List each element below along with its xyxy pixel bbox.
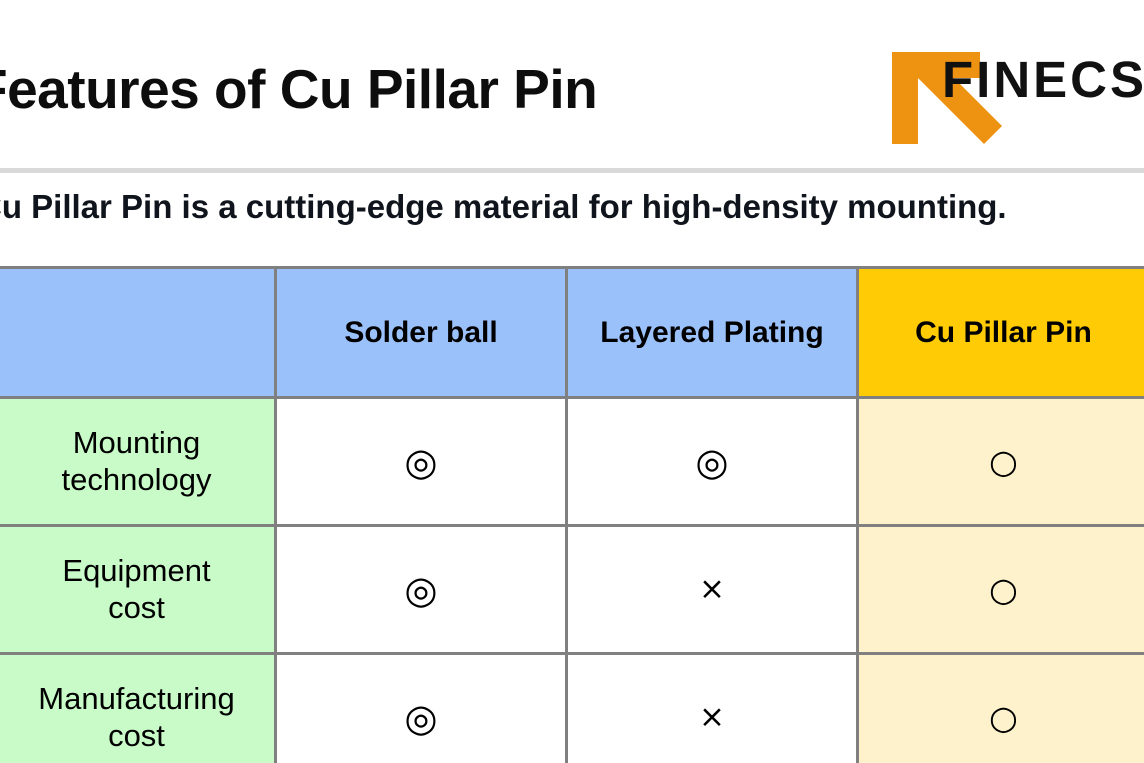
cell-equipment-layered-plating: × [567,526,858,654]
rating-single-circle-icon: ○ [989,445,1018,478]
cell-equipment-solder-ball: ◎ [276,526,567,654]
row-label-mounting-technology: Mounting technology [0,398,276,526]
rating-cross-icon: × [699,702,725,733]
cell-mounting-cu-pillar-pin: ○ [858,398,1144,526]
rating-single-circle-icon: ○ [989,701,1018,734]
comparison-table-wrapper: Solder ball Layered Plating Cu Pillar Pi… [0,266,1144,763]
table-header-blank [0,268,276,398]
rating-double-circle-icon: ◎ [695,443,728,481]
row-label-equipment-cost: Equipment cost [0,526,276,654]
rating-single-circle-icon: ○ [989,573,1018,606]
cell-mounting-layered-plating: ◎ [567,398,858,526]
comparison-table: Solder ball Layered Plating Cu Pillar Pi… [0,266,1144,763]
rating-cross-icon: × [699,574,725,605]
table-header-row: Solder ball Layered Plating Cu Pillar Pi… [0,268,1144,398]
page-title: Features of Cu Pillar Pin [0,62,597,117]
cell-manufacturing-layered-plating: × [567,654,858,763]
row-label-manufacturing-cost: Manufacturing cost [0,654,276,763]
row-label-text: Equipment cost [0,553,274,626]
title-band: Features of Cu Pillar Pin FINECS [0,0,1144,170]
table-body: Mounting technology ◎ ◎ ○ Equipment cost [0,398,1144,763]
table-header-solder-ball: Solder ball [276,268,567,398]
row-label-text: Mounting technology [0,425,274,498]
table-row: Manufacturing cost ◎ × ○ [0,654,1144,763]
cell-mounting-solder-ball: ◎ [276,398,567,526]
slide-subtitle: Cu Pillar Pin is a cutting-edge material… [0,188,1007,226]
cell-manufacturing-solder-ball: ◎ [276,654,567,763]
rating-double-circle-icon: ◎ [404,571,437,609]
row-label-text: Manufacturing cost [0,681,274,754]
rating-double-circle-icon: ◎ [404,443,437,481]
cell-equipment-cu-pillar-pin: ○ [858,526,1144,654]
table-header-layered-plating: Layered Plating [567,268,858,398]
title-divider [0,168,1144,173]
logo-wordmark: FINECS [942,54,1144,105]
brand-logo: FINECS [880,48,1144,148]
table-header-cu-pillar-pin: Cu Pillar Pin [858,268,1144,398]
slide: Features of Cu Pillar Pin FINECS Cu Pill… [0,0,1144,763]
table-row: Mounting technology ◎ ◎ ○ [0,398,1144,526]
rating-double-circle-icon: ◎ [404,699,437,737]
cell-manufacturing-cu-pillar-pin: ○ [858,654,1144,763]
table-row: Equipment cost ◎ × ○ [0,526,1144,654]
